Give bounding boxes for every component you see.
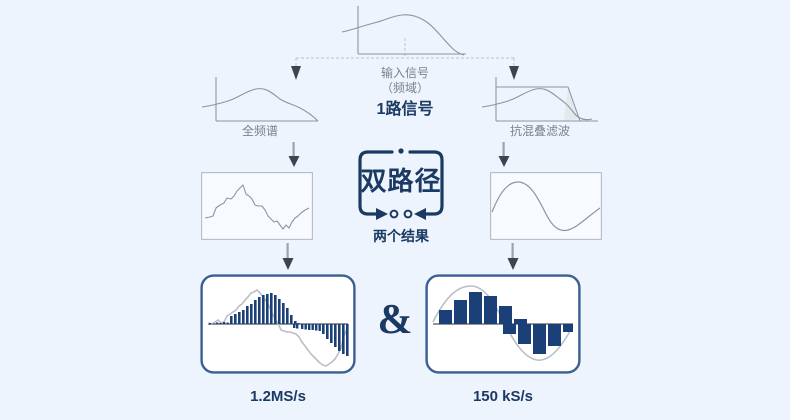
signal-count-label: 1路信号 [340, 100, 470, 120]
input-signal-caption-line2: （频域） [381, 81, 429, 95]
arrow-left-to-scope [287, 142, 301, 168]
two-results-label: 两个结果 [340, 228, 462, 246]
arrow-left-to-result [281, 243, 295, 271]
anti-alias-graph [480, 75, 600, 131]
dual-path-text: 双路径 [340, 165, 462, 198]
arrow-inward-left [376, 208, 388, 220]
anti-alias-caption: 抗混叠滤波 [480, 124, 600, 139]
low-rate-label: 150 kS/s [425, 388, 581, 407]
full-spectrum-caption: 全频谱 [200, 124, 320, 139]
ampersand-separator: & [371, 296, 419, 344]
input-signal-graph [340, 4, 470, 62]
low-rate-panel [425, 274, 581, 374]
top-gap-dot [398, 148, 403, 153]
full-spectrum-graph [200, 75, 320, 131]
diagram-canvas: 输入信号 （频域） 1路信号 全频谱 抗混叠滤波 [0, 0, 790, 420]
high-rate-label: 1.2MS/s [200, 388, 356, 407]
arrow-right-to-scope [497, 142, 511, 168]
input-signal-caption: 输入信号 （频域） [340, 66, 470, 96]
input-signal-caption-line1: 输入信号 [381, 66, 429, 80]
arrow-right-to-result [506, 243, 520, 271]
filtered-scope-box [490, 172, 602, 240]
arrow-inward-right [414, 208, 426, 220]
filter-edge-shading [564, 89, 578, 121]
full-spectrum-scope-box [201, 172, 313, 240]
dot-right [405, 211, 412, 218]
dot-left [391, 211, 398, 218]
high-rate-panel [200, 274, 356, 374]
